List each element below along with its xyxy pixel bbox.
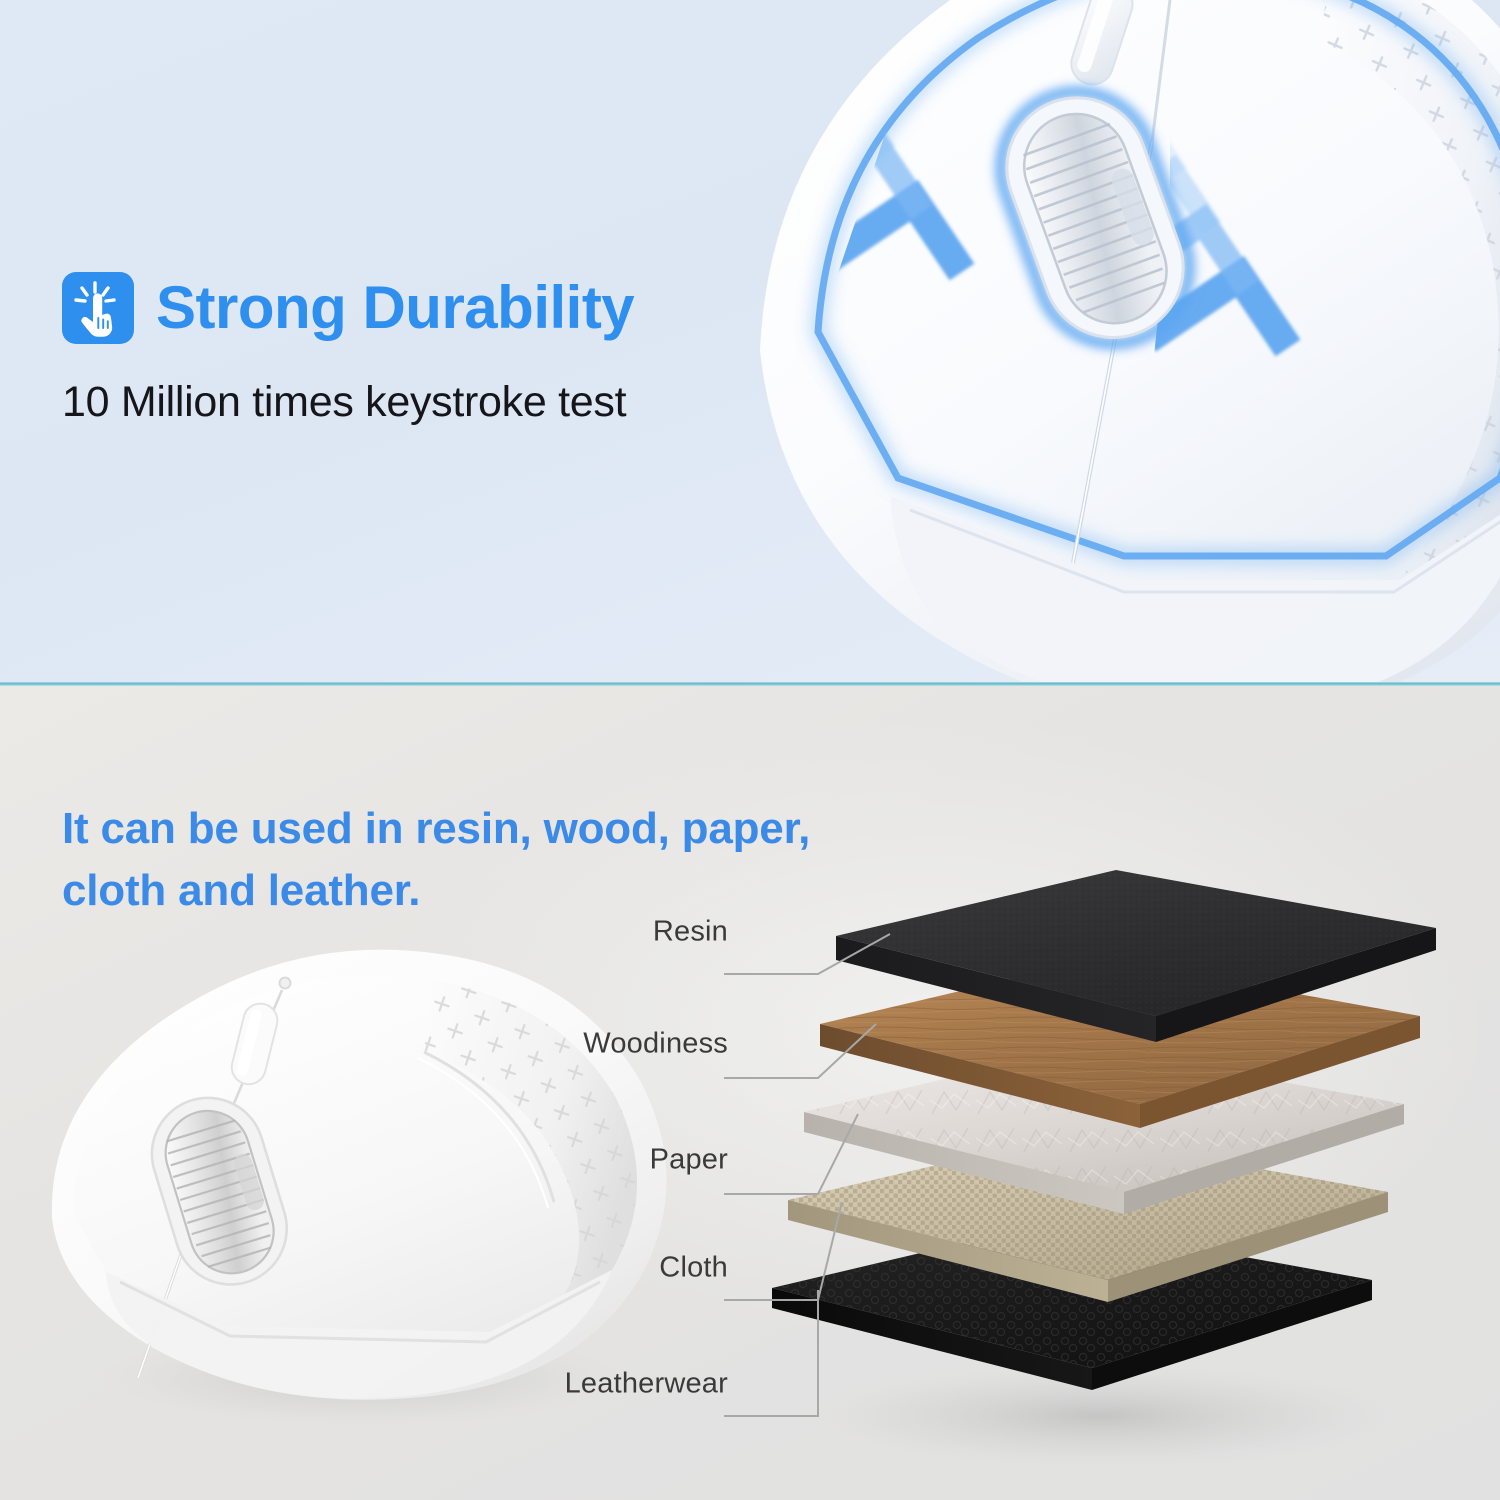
section-divider xyxy=(0,682,1500,686)
durability-subheadline: 10 Million times keystroke test xyxy=(62,378,634,427)
durability-headline-block: Strong Durability 10 Million times keyst… xyxy=(62,272,634,427)
tap-click-hand-icon xyxy=(62,272,134,344)
hero-mouse-image xyxy=(700,0,1500,684)
material-stack: Resin Woodiness Paper Cloth Leatherwear xyxy=(700,856,1500,1476)
material-label-leatherwear: Leatherwear xyxy=(565,1368,728,1401)
durability-headline: Strong Durability xyxy=(156,278,634,338)
material-label-resin: Resin xyxy=(653,916,728,949)
material-label-cloth: Cloth xyxy=(659,1252,728,1285)
material-label-paper: Paper xyxy=(650,1144,728,1177)
durability-section: Strong Durability 10 Million times keyst… xyxy=(0,0,1500,684)
material-label-woodiness: Woodiness xyxy=(583,1028,728,1061)
materials-heading: It can be used in resin, wood, paper, cl… xyxy=(62,798,810,923)
materials-section: It can be used in resin, wood, paper, cl… xyxy=(0,686,1500,1500)
leader-lines xyxy=(724,934,890,1416)
